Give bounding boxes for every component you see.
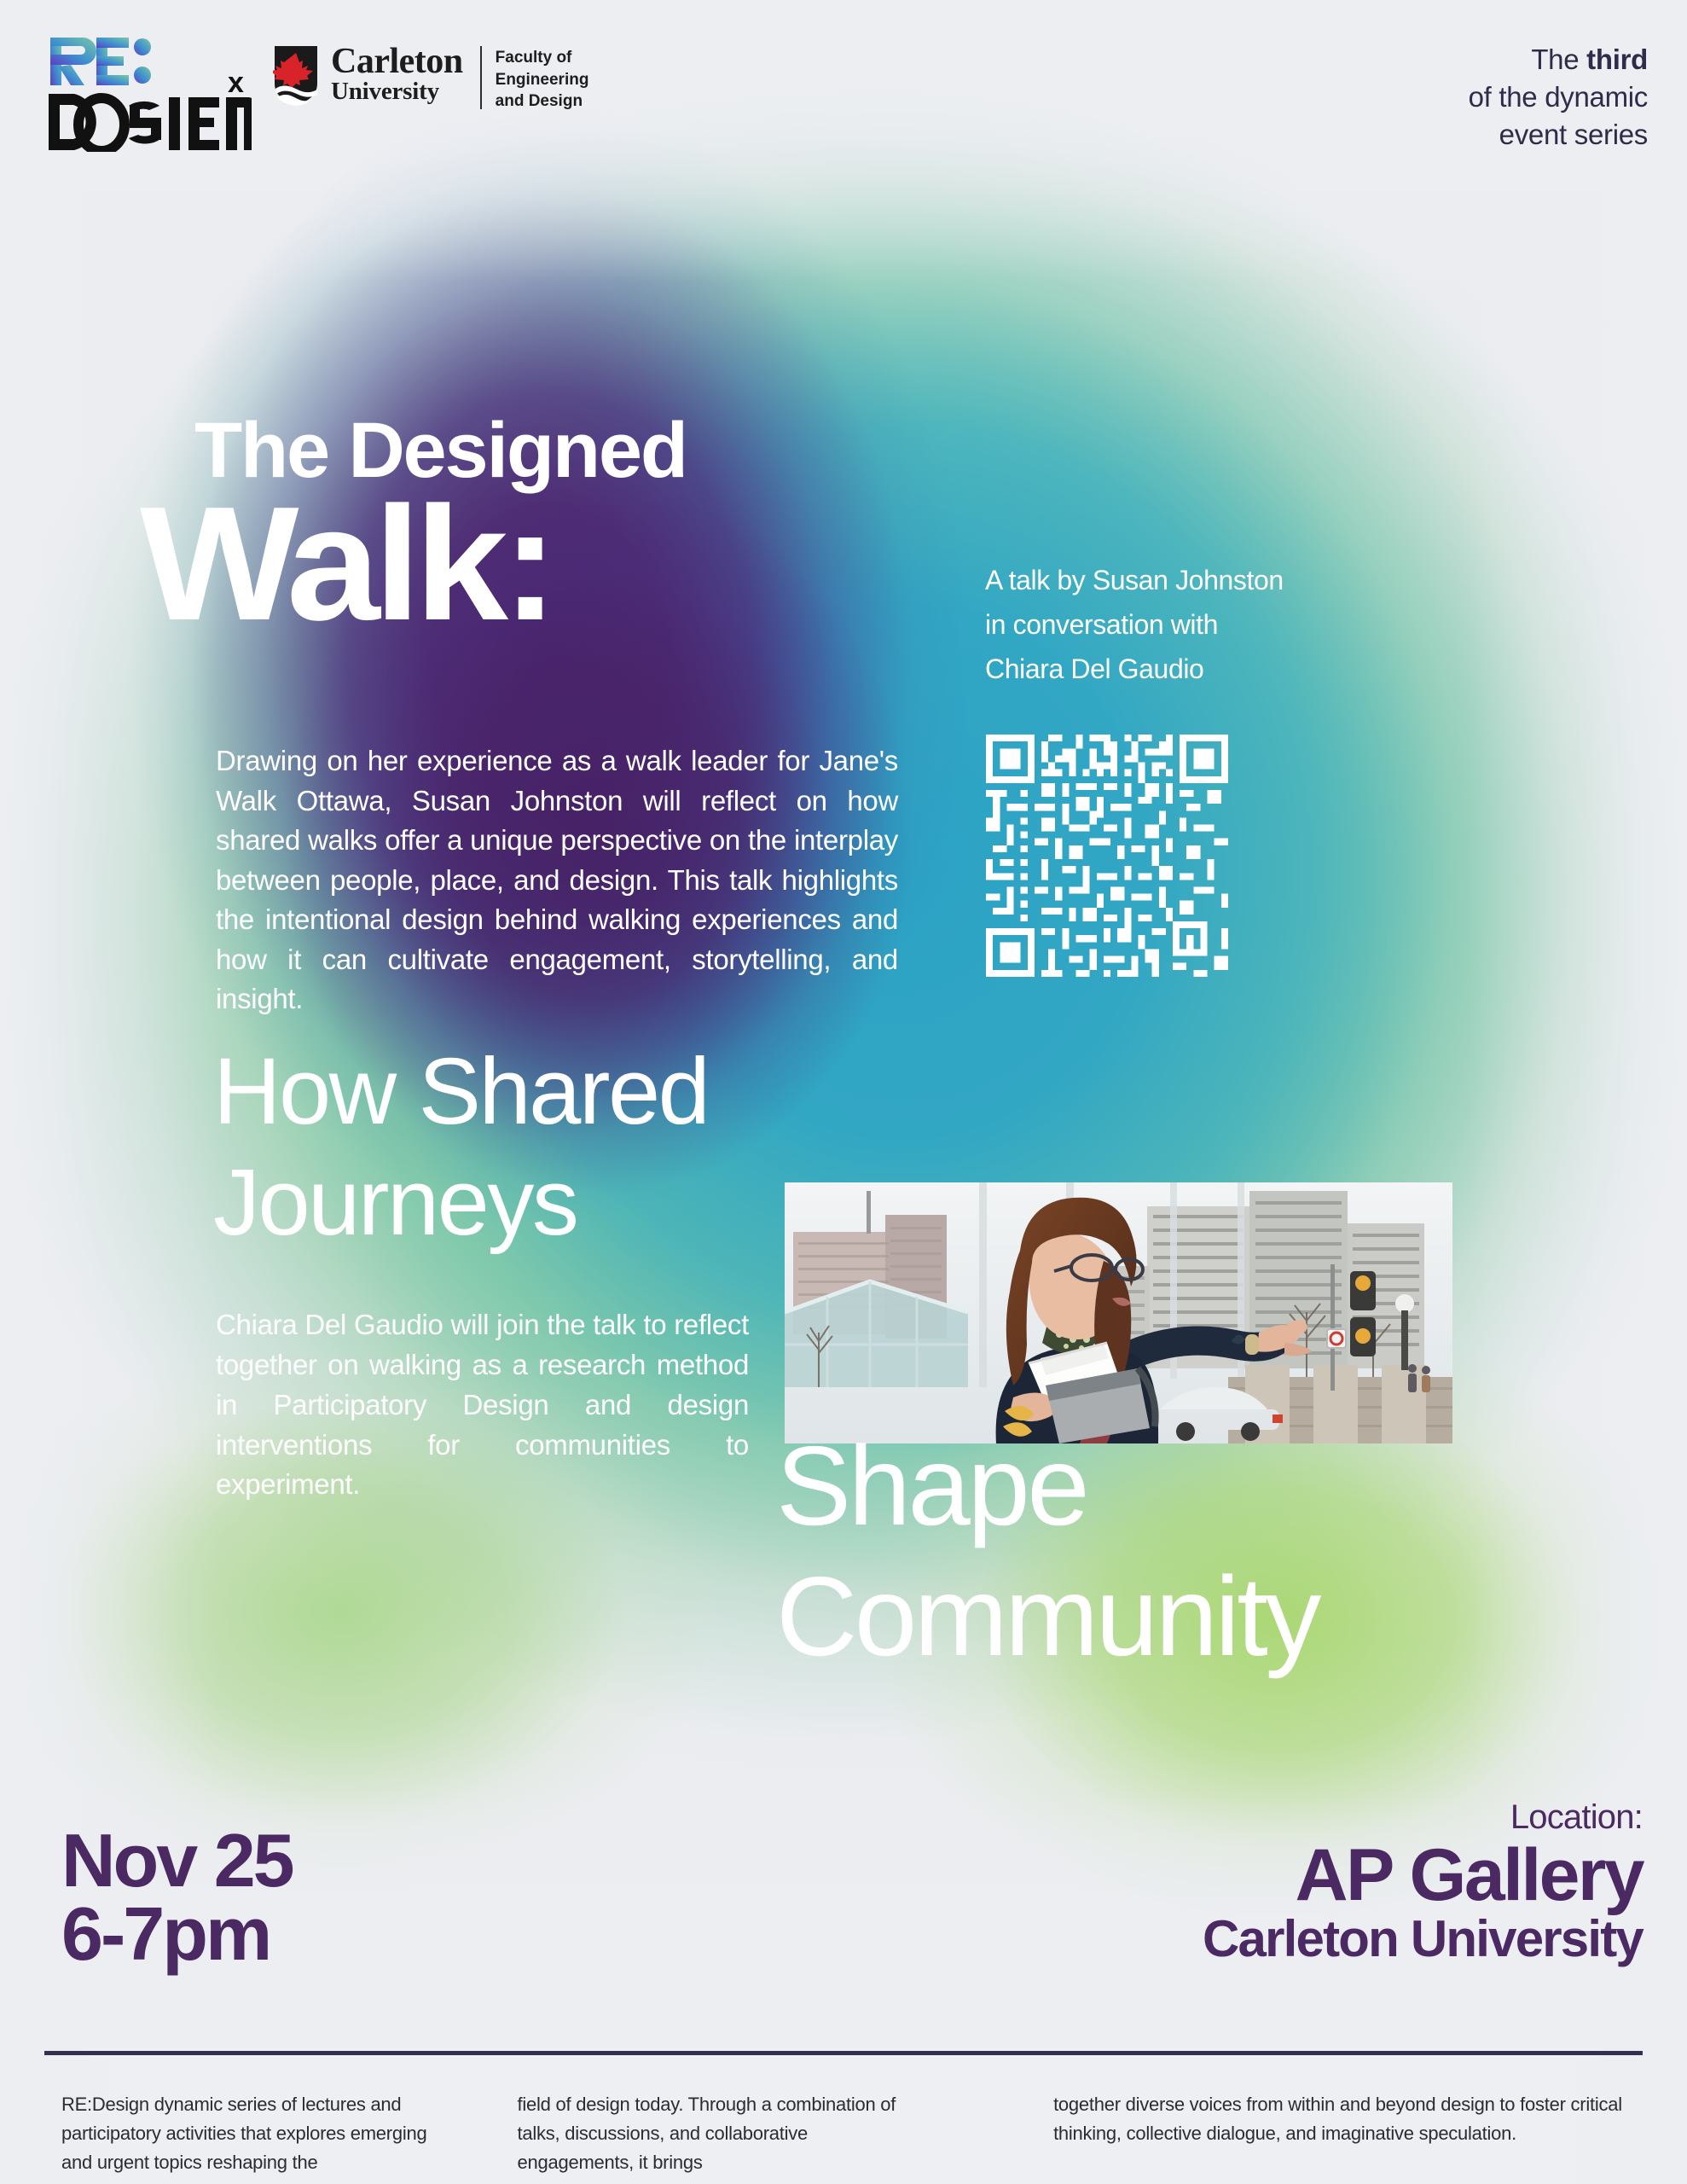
carleton-name-line1: Carleton xyxy=(331,44,463,78)
headline-line-how-shared: How Shared xyxy=(213,1037,708,1147)
footer-column-1: RE:Design dynamic series of lectures and… xyxy=(61,2090,449,2177)
headline-line-shape: Shape xyxy=(776,1420,1319,1551)
speaker-credit: A talk by Susan Johnston in conversation… xyxy=(985,559,1429,691)
footer-column-3: together diverse voices from within and … xyxy=(1053,2090,1631,2177)
title-line-2: Walk: xyxy=(140,486,552,642)
event-time: 6-7pm xyxy=(61,1897,293,1971)
poster-canvas: x Carleton University Faculty of Enginee… xyxy=(0,0,1687,2184)
qr-code[interactable] xyxy=(979,728,1235,984)
headline-part-2: Shape Community xyxy=(776,1420,1319,1682)
headline-line-community: Community xyxy=(776,1551,1319,1682)
footer-divider xyxy=(44,2051,1643,2055)
description-paragraph-2: Chiara Del Gaudio will join the talk to … xyxy=(216,1305,749,1505)
carleton-university-logo: Carleton University Faculty of Engineeri… xyxy=(273,44,588,113)
speaker-line3: Chiara Del Gaudio xyxy=(985,648,1429,692)
qr-code-graphic[interactable] xyxy=(979,728,1235,984)
series-note-line1: The third xyxy=(1290,41,1648,78)
poster-header: x Carleton University Faculty of Enginee… xyxy=(0,0,1687,196)
series-note-emphasis: third xyxy=(1586,44,1648,75)
series-note-line2: of the dynamic xyxy=(1290,78,1648,116)
series-note-line3: event series xyxy=(1290,116,1648,154)
footer-column-2: field of design today. Through a combina… xyxy=(518,2090,906,2177)
redesign-logo xyxy=(47,32,252,156)
faculty-line2: Engineering xyxy=(496,69,589,91)
carleton-name-line2: University xyxy=(331,78,463,106)
venue-institution: Carleton University xyxy=(1203,1912,1643,1966)
location-label: Location: xyxy=(1510,1798,1643,1837)
speaker-line1: A talk by Susan Johnston xyxy=(985,559,1429,603)
event-date: Nov 25 xyxy=(61,1824,293,1897)
speaker-photo xyxy=(785,1182,1452,1443)
event-location: AP Gallery Carleton University xyxy=(1203,1838,1643,1966)
logo-divider xyxy=(480,46,482,109)
carleton-shield-icon xyxy=(273,44,319,106)
description-paragraph-1: Drawing on her experience as a walk lead… xyxy=(216,741,898,1019)
headline-part-1: How Shared Journeys xyxy=(213,1037,708,1258)
collab-x-symbol: x xyxy=(228,67,244,100)
carleton-wordmark: Carleton University xyxy=(331,44,463,106)
speaker-line2: in conversation with xyxy=(985,603,1429,648)
headline-line-journeys: Journeys xyxy=(213,1147,708,1258)
redesign-logo-mark xyxy=(47,32,252,152)
series-note-prefix: The xyxy=(1531,44,1586,75)
faculty-line1: Faculty of xyxy=(496,47,589,69)
series-note: The third of the dynamic event series xyxy=(1290,41,1648,154)
footer-text: RE:Design dynamic series of lectures and… xyxy=(61,2090,1631,2177)
faculty-name: Faculty of Engineering and Design xyxy=(496,44,589,113)
event-date-time: Nov 25 6-7pm xyxy=(61,1824,293,1971)
faculty-line3: and Design xyxy=(496,90,589,113)
speaker-photo-graphic xyxy=(785,1182,1452,1443)
venue-name: AP Gallery xyxy=(1203,1838,1643,1912)
